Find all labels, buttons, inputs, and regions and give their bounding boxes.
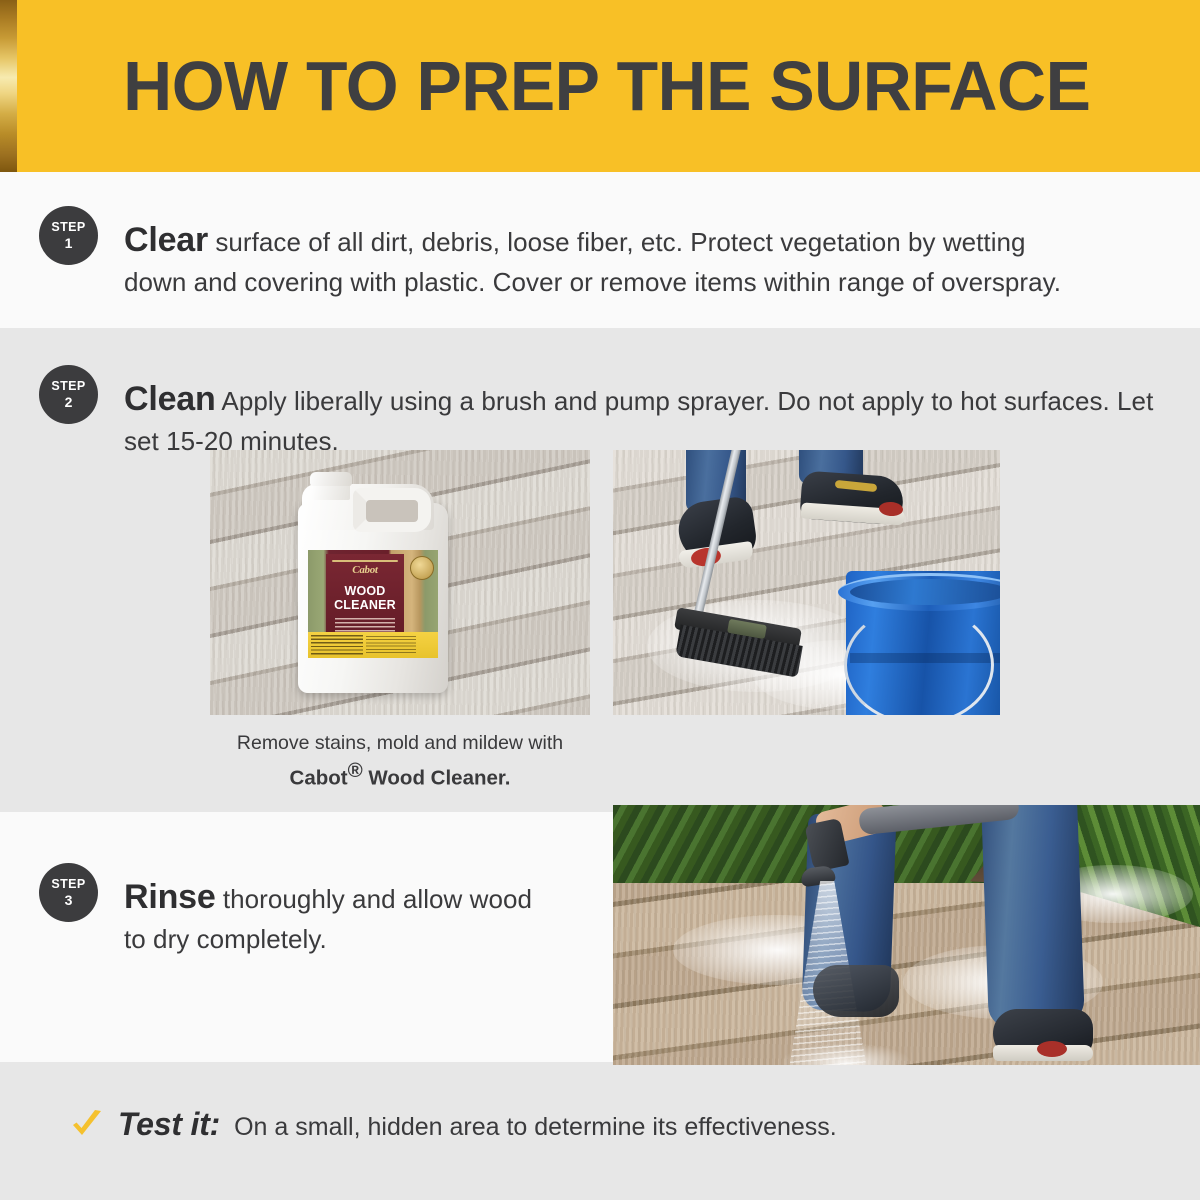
test-it-lead: Test it: (118, 1106, 220, 1143)
label-rule (332, 560, 398, 562)
gold-gradient-strip (0, 0, 17, 172)
right-sneaker-heel-accent (1037, 1041, 1067, 1057)
step-1-text: Clear surface of all dirt, debris, loose… (124, 216, 1068, 301)
label-seal-badge (410, 556, 434, 580)
step-badge-word: STEP (51, 221, 85, 234)
check-icon (70, 1108, 104, 1142)
step-badge-2: STEP 2 (39, 365, 98, 424)
bottle-cap (310, 472, 352, 486)
bottle-handle-hole (366, 500, 418, 522)
product-bottle: Cabot WOOD CLEANER (298, 478, 460, 693)
caption-brand: Cabot (290, 766, 348, 789)
label-warning-strip (308, 632, 438, 658)
step-1-lead: Clear (124, 221, 208, 259)
step-2-lead: Clean (124, 380, 216, 418)
infographic-page: HOW TO PREP THE SURFACE STEP 1 Clear sur… (0, 0, 1200, 1200)
test-it-row: Test it: On a small, hidden area to dete… (70, 1106, 837, 1143)
warning-text-block (311, 635, 363, 655)
left-sneaker (813, 965, 899, 1017)
caption-product: Wood Cleaner. (363, 766, 511, 789)
product-name: WOOD CLEANER (326, 584, 404, 612)
step-badge-word: STEP (51, 380, 85, 393)
page-title: HOW TO PREP THE SURFACE (18, 0, 1182, 172)
header-banner: HOW TO PREP THE SURFACE (0, 0, 1200, 172)
jeans-right-leg (981, 805, 1085, 1029)
step-3-text: Rinse thoroughly and allow wood to dry c… (124, 873, 554, 958)
step-badge-3: STEP 3 (39, 863, 98, 922)
step-1-body: surface of all dirt, debris, loose fiber… (124, 227, 1061, 297)
bucket-inner-opening (850, 579, 1000, 605)
photo-caption: Remove stains, mold and mildew with Cabo… (210, 730, 590, 793)
caption-line-2: Cabot® Wood Cleaner. (210, 757, 590, 793)
step-2-text: Clean Apply liberally using a brush and … (124, 375, 1164, 460)
caption-line-1: Remove stains, mold and mildew with (210, 730, 590, 757)
brand-name: Cabot (326, 564, 404, 576)
test-it-body: On a small, hidden area to determine its… (234, 1113, 837, 1142)
warning-text-block-secondary (366, 636, 416, 654)
step-badge-1: STEP 1 (39, 206, 98, 265)
step-badge-number: 1 (65, 236, 73, 250)
step-3-lead: Rinse (124, 878, 216, 916)
scrub-brush-bucket-photo (613, 450, 1000, 715)
step-badge-number: 3 (65, 893, 73, 907)
wood-cleaner-bottle-photo: Cabot WOOD CLEANER (210, 450, 590, 715)
step-2-body: Apply liberally using a brush and pump s… (124, 386, 1153, 456)
bucket-wire-handle (844, 605, 994, 715)
step-badge-word: STEP (51, 878, 85, 891)
registered-mark: ® (348, 759, 363, 782)
step-badge-number: 2 (65, 395, 73, 409)
rinse-deck-hose-photo (613, 805, 1200, 1065)
